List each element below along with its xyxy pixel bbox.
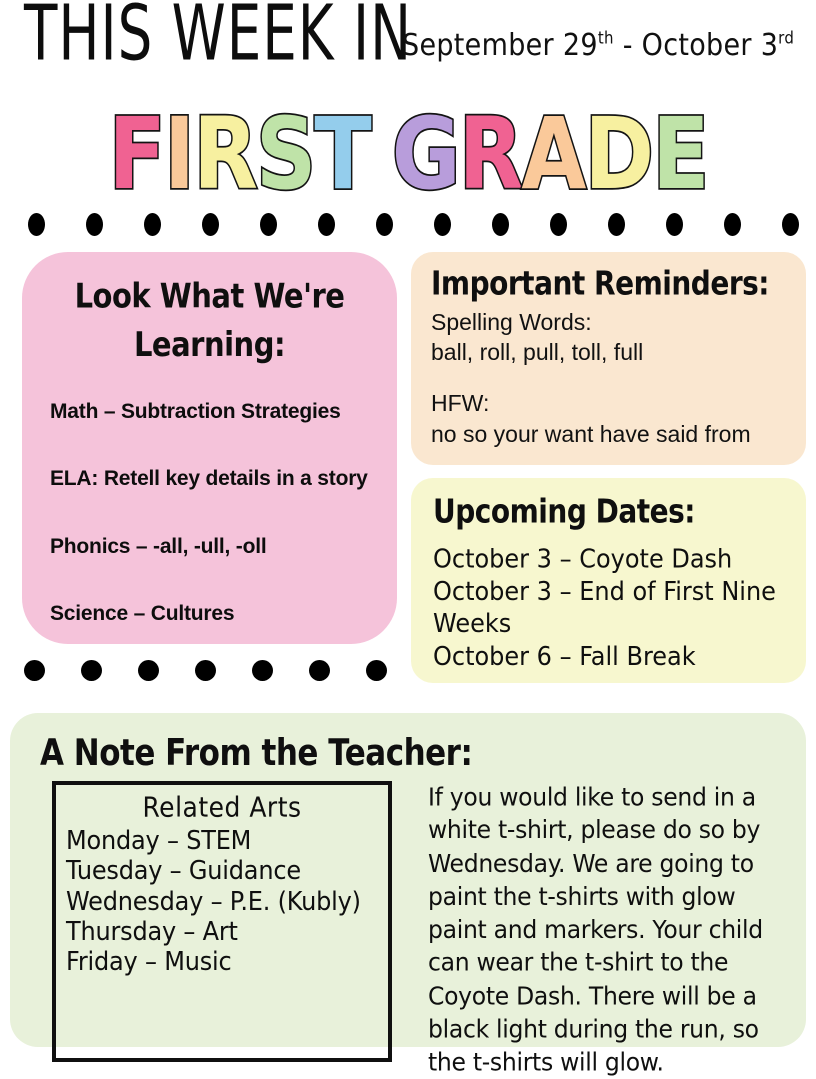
grade-word-letter: D [584, 108, 652, 202]
decor-dot [434, 213, 451, 236]
decor-dot [366, 660, 387, 681]
grade-word-title: FIRSTGRADE [0, 100, 816, 202]
decor-dot [492, 213, 509, 236]
reminders-group-list: Spelling Words:ball, roll, pull, toll, f… [427, 307, 792, 449]
upcoming-dates-heading: Upcoming Dates: [433, 494, 792, 530]
date-start-suffix: th [598, 28, 614, 48]
date-start-day: 29 [563, 28, 598, 63]
learning-panel: Look What We're Learning: Math – Subtrac… [22, 252, 397, 644]
learning-heading-line1: Look What We're [42, 272, 377, 321]
related-arts-item: Friday – Music [66, 945, 378, 978]
decor-dot [318, 213, 335, 236]
date-end-month: October [642, 28, 752, 63]
related-arts-item: Thursday – Art [66, 915, 378, 948]
teacher-note-panel: A Note From the Teacher: Related Arts Mo… [10, 713, 806, 1047]
learning-subject-item: Math – Subtraction Strategies [50, 396, 377, 427]
decor-dot [666, 213, 683, 236]
reminders-heading: Important Reminders: [431, 266, 792, 302]
learning-subject-item: Phonics – -all, -ull, -oll [50, 531, 377, 562]
decor-dot [550, 213, 567, 236]
grade-word-letter: S [256, 108, 315, 202]
reminder-group: HFW:no so your want have said from [431, 388, 792, 449]
learning-subject-item: ELA: Retell key details in a story [50, 463, 377, 494]
decor-dot [260, 213, 277, 236]
teacher-note-columns: Related Arts Monday – STEMTuesday – Guid… [34, 781, 784, 1062]
date-separator: - [623, 28, 633, 63]
dot-divider-middle [0, 653, 450, 687]
date-end-suffix: rd [778, 28, 794, 48]
decor-dot [144, 213, 161, 236]
grade-word-letter: E [652, 108, 707, 202]
grade-word-letter: F [109, 108, 164, 202]
upcoming-dates-panel: Upcoming Dates: October 3 – Coyote DashO… [411, 478, 806, 683]
decor-dot [724, 213, 741, 236]
related-arts-schedule-list: Monday – STEMTuesday – GuidanceWednesday… [66, 824, 378, 975]
grade-word-letter: R [459, 108, 522, 202]
reminder-value: ball, roll, pull, toll, full [431, 337, 792, 368]
dot-divider-top [0, 207, 816, 241]
grade-word-letter: I [164, 108, 193, 202]
learning-heading: Look What We're Learning: [42, 272, 377, 369]
upcoming-dates-list: October 3 – Coyote DashOctober 3 – End o… [427, 543, 792, 673]
related-arts-title: Related Arts [66, 791, 378, 823]
grade-word-letter: A [521, 108, 584, 202]
reminder-group: Spelling Words:ball, roll, pull, toll, f… [431, 307, 792, 368]
decor-dot [24, 660, 45, 681]
decor-dot [608, 213, 625, 236]
decor-dot [138, 660, 159, 681]
learning-subject-item: Science – Cultures [50, 598, 377, 629]
learning-heading-line2: Learning: [42, 321, 377, 370]
date-end-day: 3 [761, 28, 778, 63]
related-arts-box: Related Arts Monday – STEMTuesday – Guid… [52, 781, 392, 1062]
related-arts-item: Tuesday – Guidance [66, 854, 378, 887]
learning-subject-list: Math – Subtraction StrategiesELA: Retell… [42, 396, 377, 628]
decor-dot [309, 660, 330, 681]
reminder-label: HFW: [431, 388, 792, 419]
grade-word-letter: G [392, 108, 459, 202]
decor-dot [28, 213, 45, 236]
related-arts-item: Wednesday – P.E. (Kubly) [66, 885, 378, 918]
grade-word-letter: R [193, 108, 256, 202]
decor-dot [81, 660, 102, 681]
upcoming-date-item: October 3 – Coyote Dash [433, 543, 792, 576]
reminder-value: no so your want have said from [431, 419, 792, 450]
reminders-panel: Important Reminders: Spelling Words:ball… [411, 252, 806, 465]
date-range: September 29th - October 3rd [402, 28, 794, 63]
upcoming-date-item: October 6 – Fall Break [433, 640, 792, 673]
grade-word-letter: T [314, 108, 369, 202]
reminder-label: Spelling Words: [431, 307, 792, 338]
decor-dot [195, 660, 216, 681]
date-start-month: September [402, 28, 554, 63]
decor-dot [376, 213, 393, 236]
decor-dot [252, 660, 273, 681]
decor-dot [782, 213, 799, 236]
page-title: THIS WEEK IN [24, 0, 412, 73]
newsletter-header: THIS WEEK IN September 29th - October 3r… [0, 0, 816, 95]
decor-dot [86, 213, 103, 236]
teacher-note-body: If you would like to send in a white t-s… [428, 781, 784, 1079]
related-arts-item: Monday – STEM [66, 824, 378, 857]
upcoming-date-item: October 3 – End of First Nine Weeks [433, 575, 792, 640]
decor-dot [202, 213, 219, 236]
teacher-note-heading: A Note From the Teacher: [40, 733, 784, 773]
